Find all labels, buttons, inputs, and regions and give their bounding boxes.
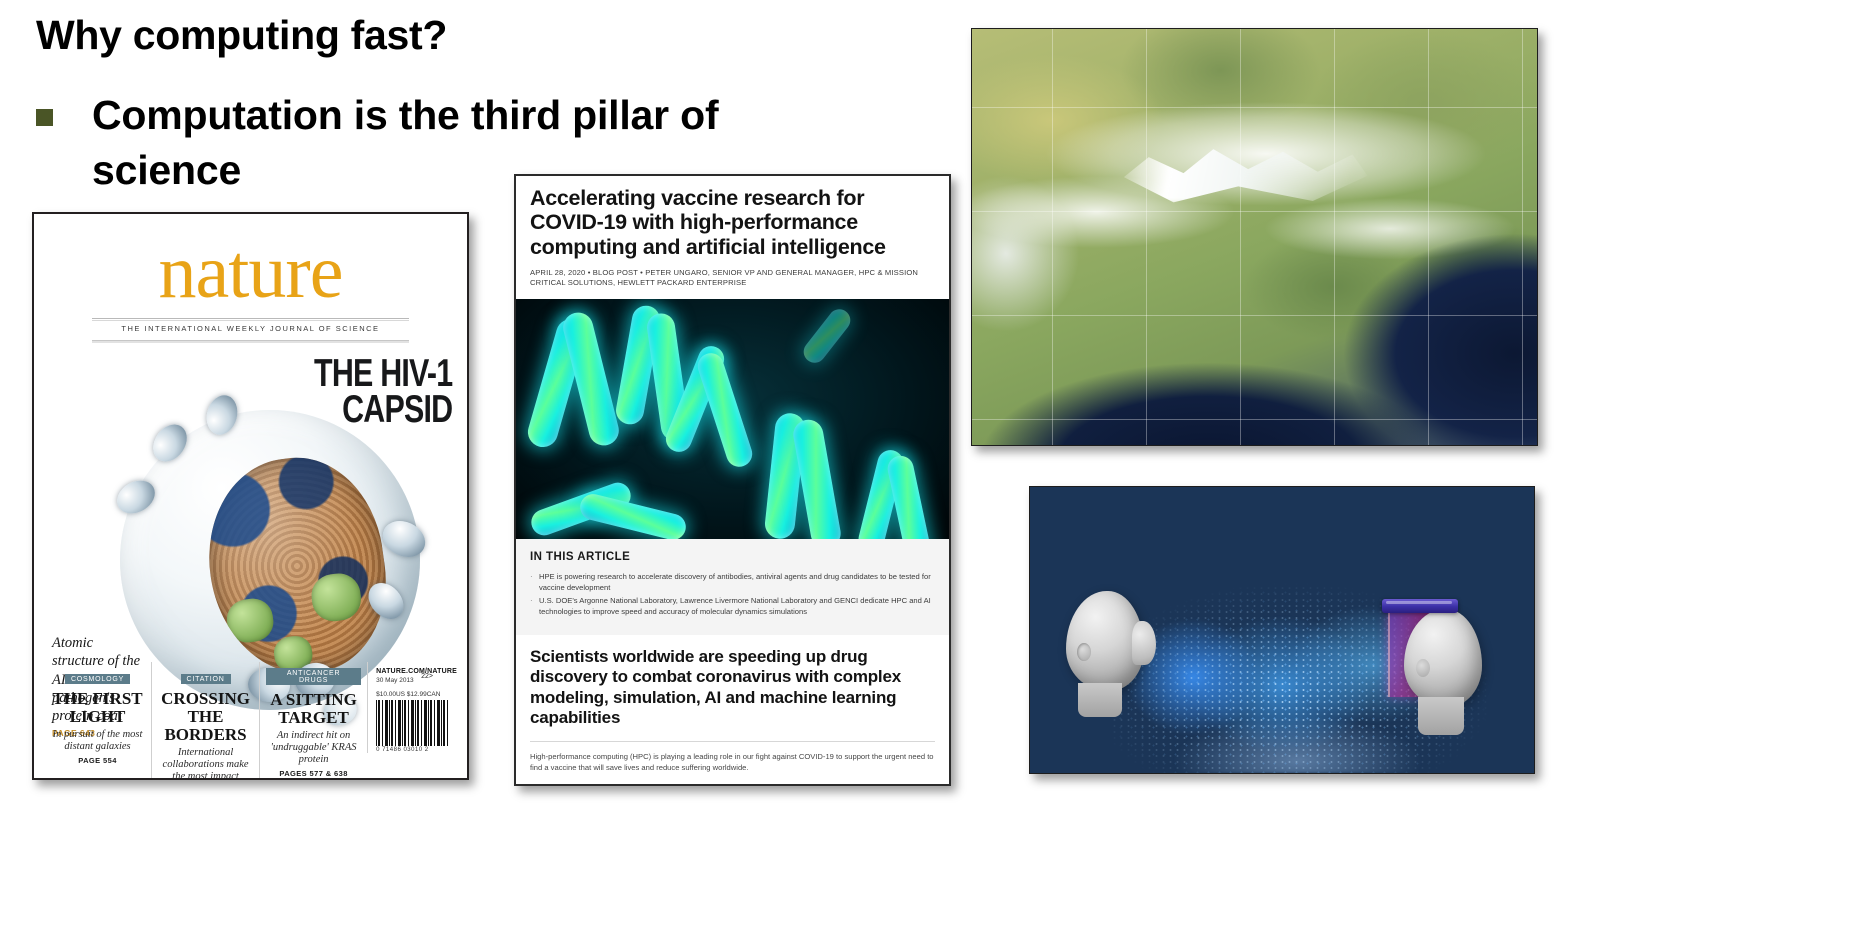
masthead-rule-bottom	[92, 340, 409, 343]
cover-teaser-anticancer: ANTICANCER DRUGS A SITTING TARGET An ind…	[259, 662, 367, 778]
face-profile-shape	[1132, 621, 1156, 665]
satellite-imagery-canvas	[972, 29, 1537, 445]
teaser-title-line-1: CROSSING THE	[158, 690, 253, 726]
bullet-square-icon	[36, 109, 53, 126]
teaser-title-line-1: A SITTING	[266, 691, 361, 709]
cover-teaser-strip: COSMOLOGY THE FIRST LIGHT In pursuit of …	[44, 662, 457, 770]
bullet-dot-icon: ·	[530, 596, 539, 618]
nature-masthead-logo: nature	[34, 234, 467, 310]
teaser-subtitle: In pursuit of the most distant galaxies	[50, 729, 145, 753]
protein-blob	[225, 596, 276, 645]
chromosome-shape	[799, 305, 855, 367]
teaser-kicker-badge: ANTICANCER DRUGS	[266, 668, 361, 685]
chromosome-micrograph-photo	[516, 299, 949, 539]
article-subheading: Scientists worldwide are speeding up dru…	[516, 635, 949, 729]
lat-lon-grid-overlay	[972, 29, 1537, 445]
barcode-icon	[376, 700, 448, 746]
teaser-title-line-2: TARGET	[266, 709, 361, 727]
simulation-canvas	[1030, 487, 1534, 773]
barcode-number: 0 71486 03010 2	[376, 747, 457, 753]
chromosome-shape	[885, 453, 932, 539]
mannequin-head-receiver	[1404, 609, 1482, 707]
in-this-article-heading: IN THIS ARTICLE	[530, 551, 935, 563]
satellite-terrain-cloud-image	[971, 28, 1538, 446]
in-this-article-panel: IN THIS ARTICLE · HPE is powering resear…	[516, 539, 949, 635]
cover-masthead-info: NATURE.COM/NATURE 30 May 2013 $10.00US $…	[367, 662, 457, 753]
mannequin-head-emitter	[1066, 591, 1144, 691]
ear-shape	[1077, 643, 1091, 661]
list-item: · HPE is powering research to accelerate…	[530, 572, 935, 594]
face-shield-headband	[1382, 599, 1458, 613]
aerosol-droplet-simulation-image	[1029, 486, 1535, 774]
article-headline: Accelerating vaccine research for COVID-…	[530, 186, 935, 259]
nature-magazine-cover-image: nature THE INTERNATIONAL WEEKLY JOURNAL …	[32, 212, 469, 780]
issue-date: 30 May 2013	[376, 677, 457, 684]
teaser-title: CROSSING THE BORDERS	[158, 690, 253, 744]
chromosome-shape	[577, 491, 688, 539]
teaser-page: PAGES 577 & 638	[266, 769, 361, 778]
cover-teaser-citation: CITATION CROSSING THE BORDERS Internatio…	[151, 662, 259, 780]
article-byline: APRIL 28, 2020 • BLOG POST • PETER UNGAR…	[530, 268, 935, 288]
list-item: · U.S. DOE's Argonne National Laboratory…	[530, 596, 935, 618]
teaser-title-line-2: LIGHT	[50, 708, 145, 726]
cover-price: $10.00US $12.99CAN	[376, 691, 457, 698]
protein-blob	[309, 571, 364, 625]
ear-shape	[1416, 659, 1430, 677]
teaser-subtitle: International collaborations make the mo…	[158, 747, 253, 780]
bullet-dot-icon: ·	[530, 572, 539, 594]
neck-shape	[1078, 683, 1122, 717]
teaser-title-line-1: THE FIRST	[50, 690, 145, 708]
capsid-protein-shell-shape	[196, 447, 398, 685]
list-item-label: HPE is powering research to accelerate d…	[539, 572, 935, 594]
teaser-kicker-badge: CITATION	[181, 674, 231, 684]
teaser-subtitle: An indirect hit on 'undruggable' KRAS pr…	[266, 730, 361, 766]
nature-website-url: NATURE.COM/NATURE	[376, 668, 457, 675]
hpe-blog-article-image: Accelerating vaccine research for COVID-…	[514, 174, 951, 786]
page-title: Why computing fast?	[36, 12, 447, 59]
list-item-label: U.S. DOE's Argonne National Laboratory, …	[539, 596, 935, 618]
neck-shape	[1418, 697, 1464, 735]
teaser-title-line-2: BORDERS	[158, 726, 253, 744]
teaser-title: THE FIRST LIGHT	[50, 690, 145, 726]
teaser-kicker-badge: COSMOLOGY	[65, 674, 130, 684]
cover-headline-line-1: THE HIV-1	[314, 356, 452, 392]
teaser-title: A SITTING TARGET	[266, 691, 361, 727]
nature-tagline: THE INTERNATIONAL WEEKLY JOURNAL OF SCIE…	[34, 324, 467, 333]
masthead-rule-top	[92, 318, 409, 321]
teaser-page: PAGE 554	[50, 756, 145, 765]
issue-code: 22>	[421, 673, 433, 680]
article-body-text: High-performance computing (HPC) is play…	[516, 742, 949, 773]
cover-teaser-cosmology: COSMOLOGY THE FIRST LIGHT In pursuit of …	[44, 662, 151, 765]
